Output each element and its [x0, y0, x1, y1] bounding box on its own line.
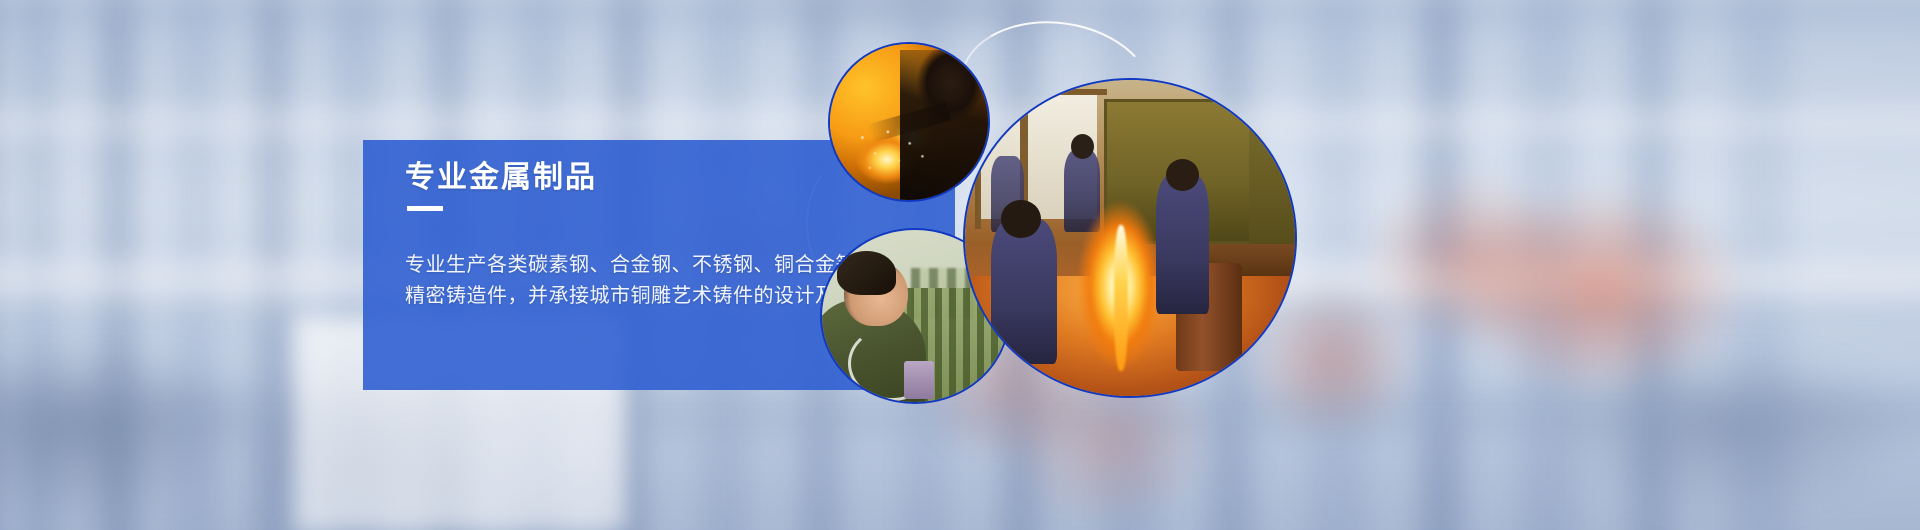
- welding-sparks-overlay: [846, 116, 938, 188]
- foundry-worker-left: [991, 219, 1057, 364]
- foundry-worker-back-head: [1071, 134, 1094, 159]
- hero-banner: 专业金属制品 专业生产各类碳素钢、合金钢、不锈钢、铜合金等 精密铸造件，并承接城…: [0, 0, 1920, 530]
- page-title: 专业金属制品: [405, 152, 597, 196]
- molten-metal-stream: [1114, 225, 1129, 370]
- foundry-worker-right-head: [1166, 159, 1199, 191]
- foundry-worker-left-head: [1001, 200, 1041, 238]
- foundry-pouring-photo: [963, 78, 1297, 398]
- inspection-part: [904, 361, 934, 399]
- inspection-worker-hair: [837, 251, 897, 296]
- foundry-worker-right: [1156, 175, 1209, 314]
- title-divider: [407, 206, 443, 211]
